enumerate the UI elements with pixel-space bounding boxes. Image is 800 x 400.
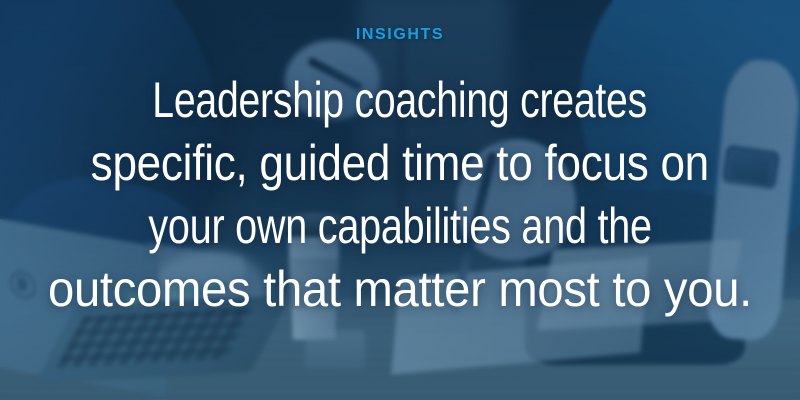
headline-line: your own capabilities and the	[148, 195, 651, 258]
card-content: INSIGHTS Leadership coaching creates spe…	[0, 0, 800, 400]
headline-line: outcomes that matter most to you.	[48, 258, 752, 321]
insights-quote-card: INSIGHTS Leadership coaching creates spe…	[0, 0, 800, 400]
headline: Leadership coaching creates specific, gu…	[0, 69, 800, 321]
headline-line: specific, guided time to focus on	[91, 132, 709, 195]
eyebrow-label: INSIGHTS	[356, 27, 444, 43]
headline-line: Leadership coaching creates	[153, 69, 648, 132]
